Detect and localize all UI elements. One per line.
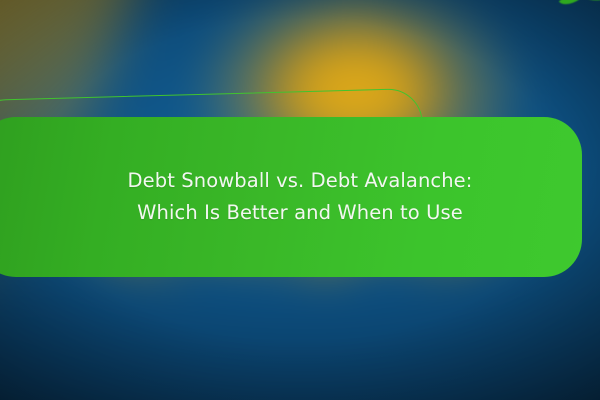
page-title: Debt Snowball vs. Debt Avalanche: Which …: [100, 165, 500, 228]
title-banner: Debt Snowball vs. Debt Avalanche: Which …: [0, 117, 582, 277]
thumbnail-canvas: Debt Snowball vs. Debt Avalanche: Which …: [0, 0, 600, 400]
